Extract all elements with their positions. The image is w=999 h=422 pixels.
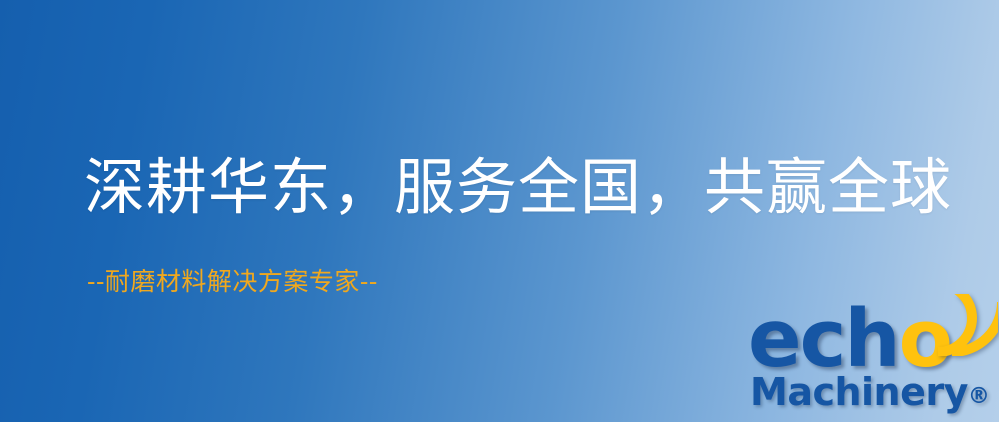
logo-tagline: Machinery®: [750, 372, 990, 417]
company-logo[interactable]: echo Machinery®: [748, 298, 996, 418]
banner-subtitle: --耐磨材料解决方案专家--: [87, 266, 378, 298]
logo-word-echo: echo: [748, 300, 951, 379]
registered-trademark-icon: ®: [968, 384, 990, 409]
logo-tagline-text: Machinery: [750, 370, 968, 414]
logo-wordmark: echo: [748, 298, 996, 376]
echo-signal-waves-icon: [930, 294, 998, 356]
banner-headline: 深耕华东，服务全国，共赢全球: [84, 152, 952, 224]
hero-banner: 深耕华东，服务全国，共赢全球 --耐磨材料解决方案专家-- echo Machi…: [0, 0, 999, 422]
